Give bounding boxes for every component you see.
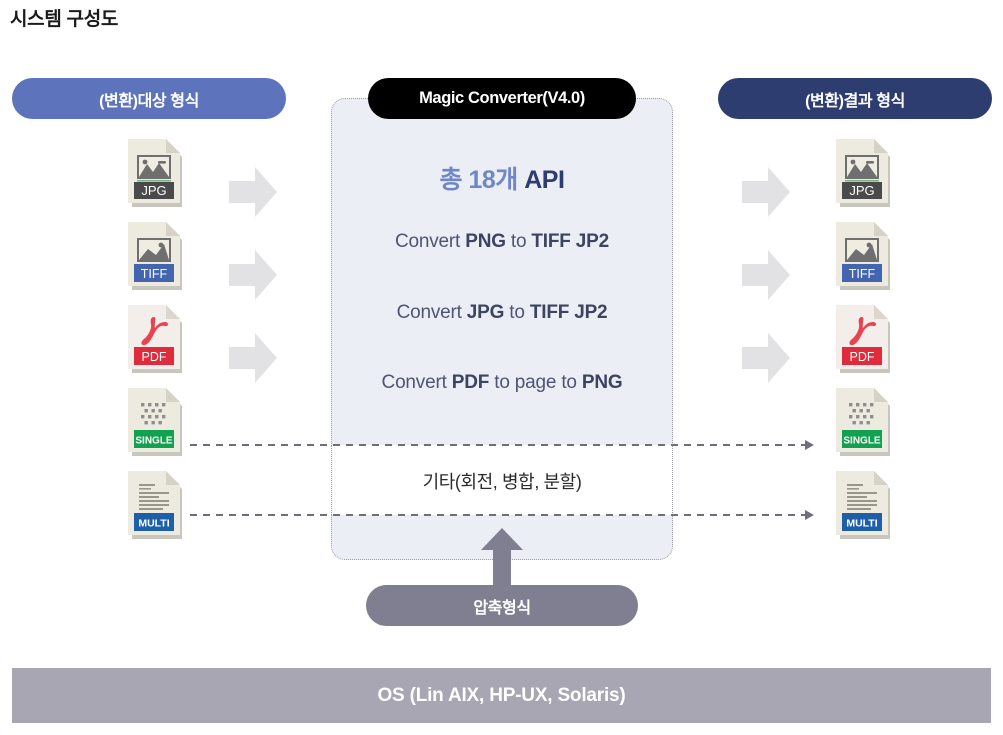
- svg-text:JPG: JPG: [141, 183, 166, 198]
- svg-text:SINGLE: SINGLE: [843, 436, 881, 447]
- conversion-to: TIFF JP2: [531, 231, 609, 252]
- result-tiff-file-icon: TIFF: [836, 222, 892, 292]
- dashed-flow-arrowhead-single: [805, 440, 814, 450]
- api-count-label: 총 18개 API: [331, 160, 673, 196]
- pdf-file-icon: PDF: [128, 305, 184, 375]
- svg-text:TIFF: TIFF: [141, 267, 168, 281]
- dashed-flow-line-multi: [190, 514, 808, 516]
- result-multi-file-icon: MULTI: [836, 471, 892, 541]
- svg-text:MULTI: MULTI: [138, 518, 169, 530]
- compression-up-arrow-icon: [481, 528, 523, 592]
- conversion-verb: Convert: [395, 231, 465, 252]
- single-file-icon: SINGLE: [128, 388, 184, 458]
- svg-text:MULTI: MULTI: [846, 518, 877, 530]
- conversion-verb: Convert: [382, 372, 452, 393]
- conversion-line-pdf: Convert PDF to page to PNG: [331, 372, 673, 394]
- svg-text:PDF: PDF: [142, 350, 167, 364]
- conversion-from: JPG: [467, 302, 504, 323]
- conversion-line-jpg: Convert JPG to TIFF JP2: [331, 302, 673, 324]
- system-architecture-diagram: 시스템 구성도 Magic Converter(V4.0) 총 18개 API …: [0, 0, 1003, 735]
- svg-text:PDF: PDF: [850, 350, 875, 364]
- compression-format-pill[interactable]: 압축형식: [366, 585, 638, 626]
- result-single-file-icon: SINGLE: [836, 388, 892, 458]
- result-jpg-file-icon: JPG: [836, 139, 892, 209]
- flow-arrow-tiff-icon: [229, 250, 277, 300]
- conversion-from: PNG: [465, 231, 506, 252]
- svg-text:TIFF: TIFF: [849, 267, 876, 281]
- os-platform-bar: OS (Lin AIX, HP-UX, Solaris): [12, 668, 991, 723]
- flow-arrow-jpg-icon: [229, 167, 277, 217]
- conversion-mid: to: [504, 302, 530, 323]
- conversion-line-png: Convert PNG to TIFF JP2: [331, 231, 673, 253]
- result-pdf-file-icon: PDF: [836, 305, 892, 375]
- result-flow-arrow-pdf-icon: [742, 333, 790, 383]
- result-flow-arrow-tiff-icon: [742, 250, 790, 300]
- etc-operations-label: 기타(회전, 병합, 분할): [331, 468, 673, 494]
- tiff-file-icon: TIFF: [128, 222, 184, 292]
- result-flow-arrow-jpg-icon: [742, 167, 790, 217]
- conversion-to: TIFF JP2: [530, 302, 608, 323]
- flow-arrow-pdf-icon: [229, 333, 277, 383]
- conversion-mid: to: [506, 231, 532, 252]
- page-title: 시스템 구성도: [10, 4, 118, 31]
- conversion-from: PDF: [452, 372, 489, 393]
- conversion-to: PNG: [582, 372, 623, 393]
- dashed-flow-arrowhead-multi: [805, 510, 814, 520]
- result-format-pill[interactable]: (변환)결과 형식: [718, 78, 992, 119]
- jpg-file-icon: JPG: [128, 139, 184, 209]
- svg-text:SINGLE: SINGLE: [135, 436, 173, 447]
- conversion-verb: Convert: [397, 302, 467, 323]
- api-count-lead: 총 18개: [440, 166, 525, 194]
- dashed-flow-line-single: [190, 444, 808, 446]
- conversion-mid: to page to: [489, 372, 582, 393]
- source-format-pill[interactable]: (변환)대상 형식: [12, 78, 286, 119]
- api-count-api: API: [524, 166, 564, 194]
- multi-file-icon: MULTI: [128, 471, 184, 541]
- magic-converter-pill[interactable]: Magic Converter(V4.0): [368, 78, 636, 119]
- svg-text:JPG: JPG: [849, 183, 874, 198]
